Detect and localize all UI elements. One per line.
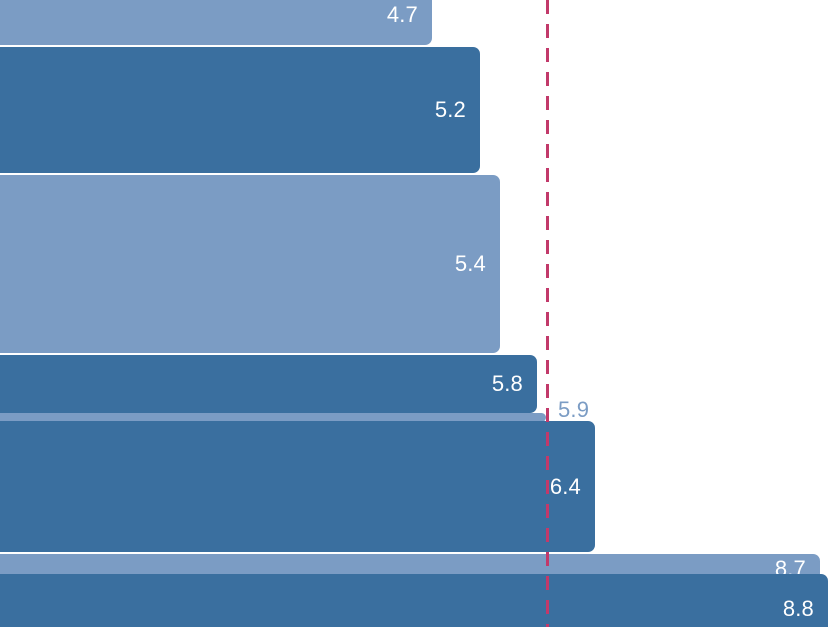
bar-value-label: 5.2	[435, 99, 480, 121]
bar-value-label: 4.7	[387, 4, 432, 26]
bar-4-7[interactable]: 4.7	[0, 0, 432, 45]
bar-8-8[interactable]: 8.8	[0, 574, 828, 627]
reference-line	[546, 0, 549, 627]
bar-5-4[interactable]: 5.4	[0, 175, 500, 353]
bar-6-4[interactable]: 6.4	[0, 421, 595, 552]
horizontal-bar-chart: 4.75.25.45.86.48.78.8 5.9	[0, 0, 836, 627]
bar-5-2[interactable]: 5.2	[0, 47, 480, 173]
bar-value-label: 8.8	[783, 598, 828, 620]
bar-value-label: 6.4	[550, 476, 595, 498]
bar-value-label-outside: 5.9	[558, 399, 589, 421]
bar-5-8[interactable]: 5.8	[0, 355, 537, 413]
bar-value-label: 5.4	[455, 253, 500, 275]
bar-value-label: 5.8	[492, 373, 537, 395]
